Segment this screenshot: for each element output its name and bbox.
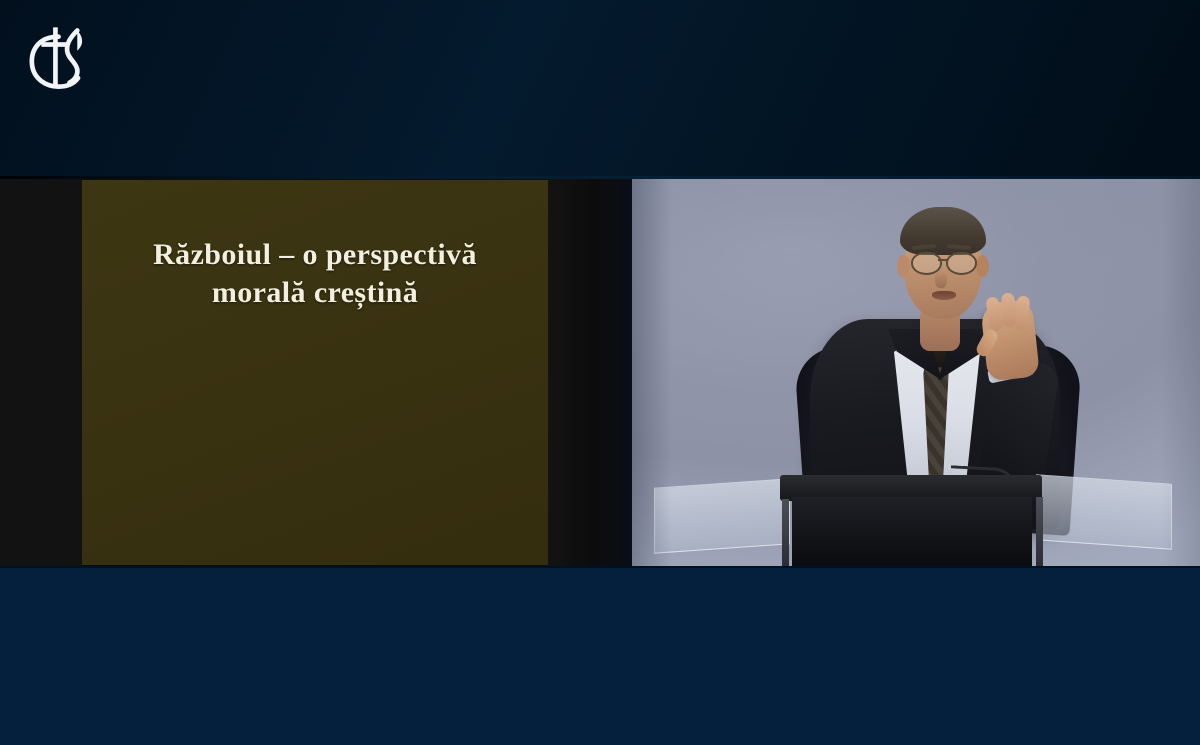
presentation-slide[interactable]: Războiul – o perspectivă morală creștină <box>82 180 548 565</box>
video-stage: Războiul – o perspectivă morală creștină <box>0 0 1200 745</box>
left-gutter <box>0 179 82 566</box>
header-band <box>0 0 1200 179</box>
video-vignette <box>632 179 1200 566</box>
speaker-video-feed[interactable] <box>632 179 1200 566</box>
content-band: Războiul – o perspectivă morală creștină <box>0 179 1200 566</box>
slide-title: Războiul – o perspectivă morală creștină <box>82 236 548 312</box>
slide-title-line-1: Războiul – o perspectivă <box>108 236 522 274</box>
cross-and-flame-logo <box>18 18 96 96</box>
slide-title-line-2: morală creștină <box>108 274 522 312</box>
footer-band <box>0 566 1200 745</box>
center-gutter <box>548 179 632 566</box>
